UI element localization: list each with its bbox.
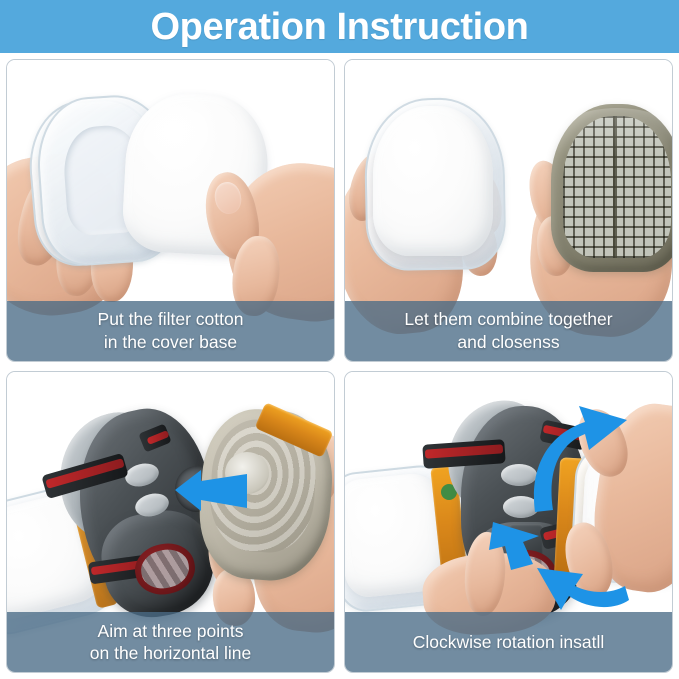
step-1-caption: Put the filter cotton in the cover base [7,301,334,361]
step-1-caption-text: Put the filter cotton in the cover base [90,308,252,352]
step-2-caption: Let them combine together and closenss [345,301,672,361]
cartridge-grid [563,116,671,258]
step-3-caption-text: Aim at three points on the horizontal li… [82,620,260,664]
curved-arrow-up-left-head [487,512,557,582]
page-title: Operation Instruction [151,8,529,46]
assembled-cover-cotton [373,106,493,256]
steps-grid: Put the filter cotton in the cover base [6,59,673,673]
step-panel-2: Let them combine together and closenss [344,59,673,362]
instruction-infographic: Operation Instruction [0,0,679,679]
step-3-caption: Aim at three points on the horizontal li… [7,612,334,672]
step-panel-4: Clockwise rotation insatll [344,371,673,674]
step-2-caption-text: Let them combine together and closenss [396,308,620,352]
step-panel-3: Aim at three points on the horizontal li… [6,371,335,674]
step-4-caption-text: Clockwise rotation insatll [405,631,613,653]
step-panel-1: Put the filter cotton in the cover base [6,59,335,362]
filter-cotton-highlight [143,110,221,172]
cartridge-rib-vertical [613,116,617,258]
step-4-caption: Clockwise rotation insatll [345,612,672,672]
header-banner: Operation Instruction [0,0,679,53]
curved-arrow-up-right [523,400,643,516]
left-pointing-arrow [175,468,249,514]
